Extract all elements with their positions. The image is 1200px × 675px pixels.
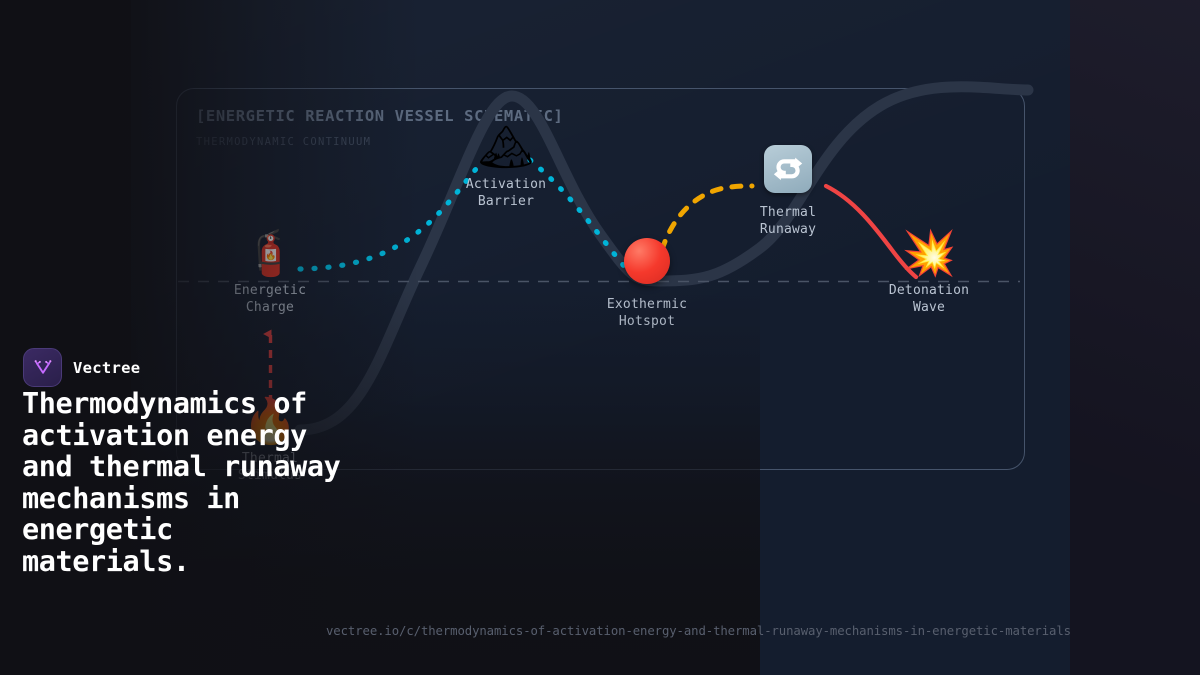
snow-mountain-icon: 🏔 (436, 126, 576, 170)
vectree-branch-v-icon (23, 348, 62, 387)
firecracker-icon: 🧯 (200, 232, 340, 276)
node-label: Activation Barrier (436, 176, 576, 210)
brand: Vectree (23, 348, 140, 387)
footer-url: vectree.io/c/thermodynamics-of-activatio… (326, 624, 1071, 638)
social-card: [ENERGETIC REACTION VESSEL SCHEMATIC] TH… (0, 0, 1200, 675)
node-label: Exothermic Hotspot (577, 296, 717, 330)
node-exothermic-hotspot[interactable]: Exothermic Hotspot (577, 238, 717, 330)
explosion-icon: 💥 (859, 232, 999, 276)
node-label: Thermal Runaway (718, 204, 858, 238)
node-energetic-charge[interactable]: 🧯 Energetic Charge (200, 232, 340, 316)
node-thermal-runaway[interactable]: Thermal Runaway (718, 145, 858, 238)
node-activation-barrier[interactable]: 🏔 Activation Barrier (436, 126, 576, 210)
node-detonation-wave[interactable]: 💥 Detonation Wave (859, 232, 999, 316)
brand-name: Vectree (73, 359, 140, 377)
node-label: Energetic Charge (200, 282, 340, 316)
red-circle-icon (624, 238, 670, 284)
headline: Thermodynamics of activation energy and … (22, 388, 352, 578)
cycle-arrows-icon (764, 145, 812, 193)
node-label: Detonation Wave (859, 282, 999, 316)
